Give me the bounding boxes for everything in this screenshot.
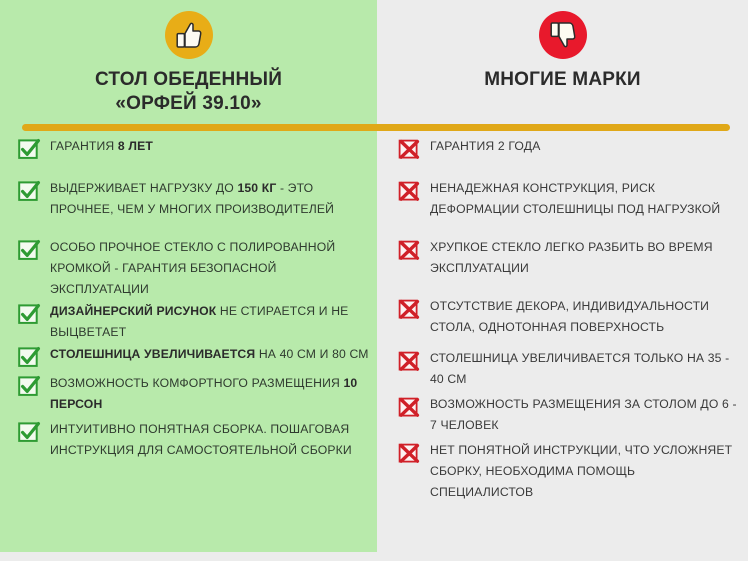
list-item-text: СТОЛЕШНИЦА УВЕЛИЧИВАЕТСЯ ТОЛЬКО НА 35 - …	[430, 348, 738, 390]
checkbox-cross-icon	[398, 239, 421, 262]
list-item-text: НЕНАДЕЖНАЯ КОНСТРУКЦИЯ, РИСК ДЕФОРМАЦИИ …	[430, 178, 738, 220]
cons-title-line1: МНОГИЕ МАРКИ	[484, 69, 641, 90]
cons-title: МНОГИЕ МАРКИ	[484, 68, 641, 92]
pros-title-line2: «ОРФЕЙ 39.10»	[95, 92, 282, 116]
list-item-text: ВОЗМОЖНОСТЬ КОМФОРТНОГО РАЗМЕЩЕНИЯ 10 ПЕ…	[50, 373, 373, 415]
comparison-infographic: СТОЛ ОБЕДЕННЫЙ «ОРФЕЙ 39.10» МНОГИЕ МАРК…	[0, 0, 748, 561]
checkbox-check-icon	[18, 180, 41, 203]
list-item-text: ОСОБО ПРОЧНОЕ СТЕКЛО С ПОЛИРОВАННОЙ КРОМ…	[50, 237, 373, 300]
list-item: ОТСУТСТВИЕ ДЕКОРА, ИНДИВИДУАЛЬНОСТИ СТОЛ…	[398, 296, 738, 338]
list-item-text: ИНТУИТИВНО ПОНЯТНАЯ СБОРКА. ПОШАГОВАЯ ИН…	[50, 419, 373, 461]
checkbox-check-icon	[18, 421, 41, 444]
thumbs-down-icon	[539, 11, 587, 59]
gold-divider-bar	[22, 124, 730, 131]
list-item: ГАРАНТИЯ 8 ЛЕТ	[18, 136, 373, 161]
list-item-text: ВОЗМОЖНОСТЬ РАЗМЕЩЕНИЯ ЗА СТОЛОМ ДО 6 - …	[430, 394, 738, 436]
pros-header: СТОЛ ОБЕДЕННЫЙ «ОРФЕЙ 39.10»	[0, 0, 377, 120]
list-item: ГАРАНТИЯ 2 ГОДА	[398, 136, 738, 161]
checkbox-cross-icon	[398, 396, 421, 419]
cons-header: МНОГИЕ МАРКИ	[377, 0, 748, 120]
list-item-text: ГАРАНТИЯ 8 ЛЕТ	[50, 136, 153, 157]
list-item: СТОЛЕШНИЦА УВЕЛИЧИВАЕТСЯ НА 40 СМ И 80 С…	[18, 344, 373, 369]
checkbox-cross-icon	[398, 442, 421, 465]
pros-list: ГАРАНТИЯ 8 ЛЕТ ВЫДЕРЖИВАЕТ НАГРУЗКУ ДО 1…	[18, 136, 373, 467]
list-item-text: ХРУПКОЕ СТЕКЛО ЛЕГКО РАЗБИТЬ ВО ВРЕМЯ ЭК…	[430, 237, 738, 279]
thumbs-up-icon	[165, 11, 213, 59]
checkbox-check-icon	[18, 375, 41, 398]
checkbox-cross-icon	[398, 298, 421, 321]
list-item: ВЫДЕРЖИВАЕТ НАГРУЗКУ ДО 150 КГ - ЭТО ПРО…	[18, 178, 373, 220]
checkbox-check-icon	[18, 303, 41, 326]
list-item: ОСОБО ПРОЧНОЕ СТЕКЛО С ПОЛИРОВАННОЙ КРОМ…	[18, 237, 373, 300]
checkbox-check-icon	[18, 239, 41, 262]
pros-title: СТОЛ ОБЕДЕННЫЙ «ОРФЕЙ 39.10»	[95, 68, 282, 117]
cons-list: ГАРАНТИЯ 2 ГОДА НЕНАДЕЖНАЯ КОНСТРУКЦИЯ, …	[398, 136, 738, 509]
list-item: СТОЛЕШНИЦА УВЕЛИЧИВАЕТСЯ ТОЛЬКО НА 35 - …	[398, 348, 738, 390]
list-item: НЕНАДЕЖНАЯ КОНСТРУКЦИЯ, РИСК ДЕФОРМАЦИИ …	[398, 178, 738, 220]
checkbox-check-icon	[18, 138, 41, 161]
pros-title-line1: СТОЛ ОБЕДЕННЫЙ	[95, 69, 282, 90]
checkbox-cross-icon	[398, 350, 421, 373]
list-item: ВОЗМОЖНОСТЬ РАЗМЕЩЕНИЯ ЗА СТОЛОМ ДО 6 - …	[398, 394, 738, 436]
list-item: ВОЗМОЖНОСТЬ КОМФОРТНОГО РАЗМЕЩЕНИЯ 10 ПЕ…	[18, 373, 373, 415]
list-item-text: ГАРАНТИЯ 2 ГОДА	[430, 136, 540, 157]
checkbox-cross-icon	[398, 138, 421, 161]
list-item-text: ВЫДЕРЖИВАЕТ НАГРУЗКУ ДО 150 КГ - ЭТО ПРО…	[50, 178, 373, 220]
list-item: ДИЗАЙНЕРСКИЙ РИСУНОК НЕ СТИРАЕТСЯ И НЕ В…	[18, 301, 373, 343]
checkbox-cross-icon	[398, 180, 421, 203]
list-item: ИНТУИТИВНО ПОНЯТНАЯ СБОРКА. ПОШАГОВАЯ ИН…	[18, 419, 373, 461]
list-item: ХРУПКОЕ СТЕКЛО ЛЕГКО РАЗБИТЬ ВО ВРЕМЯ ЭК…	[398, 237, 738, 279]
list-item-text: НЕТ ПОНЯТНОЙ ИНСТРУКЦИИ, ЧТО УСЛОЖНЯЕТ С…	[430, 440, 738, 503]
list-item-text: ДИЗАЙНЕРСКИЙ РИСУНОК НЕ СТИРАЕТСЯ И НЕ В…	[50, 301, 373, 343]
checkbox-check-icon	[18, 346, 41, 369]
list-item-text: СТОЛЕШНИЦА УВЕЛИЧИВАЕТСЯ НА 40 СМ И 80 С…	[50, 344, 369, 365]
list-item-text: ОТСУТСТВИЕ ДЕКОРА, ИНДИВИДУАЛЬНОСТИ СТОЛ…	[430, 296, 738, 338]
list-item: НЕТ ПОНЯТНОЙ ИНСТРУКЦИИ, ЧТО УСЛОЖНЯЕТ С…	[398, 440, 738, 503]
